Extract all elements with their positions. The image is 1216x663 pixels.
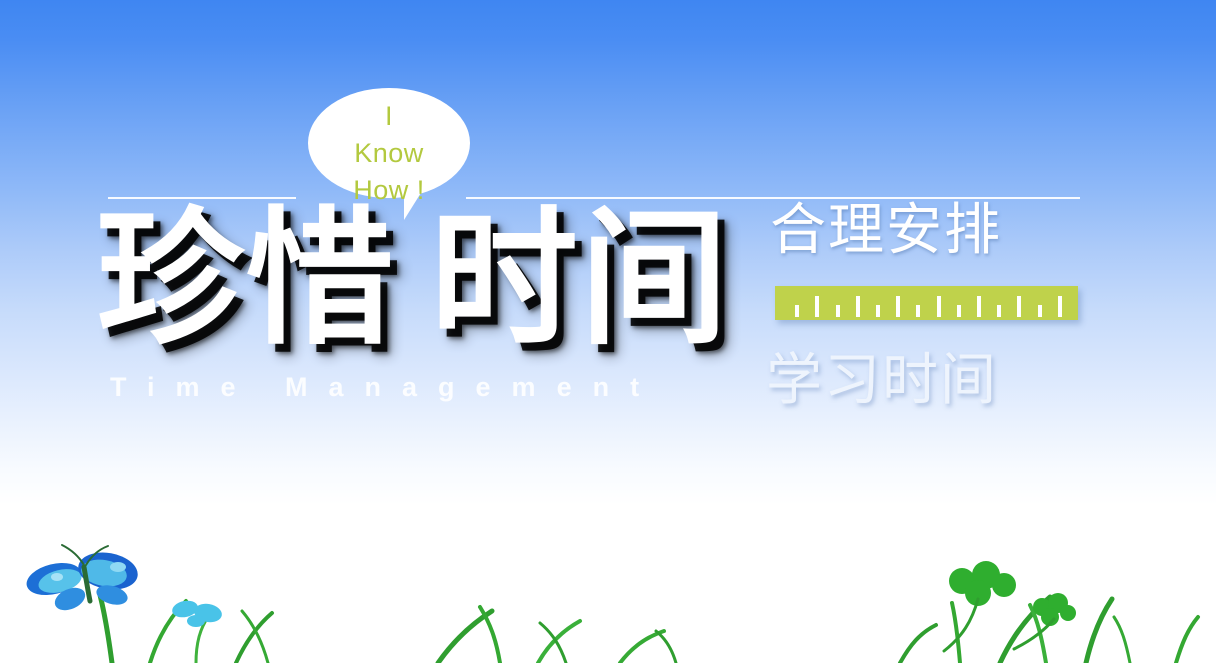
ruler-tick (916, 305, 920, 317)
ruler-tick (876, 305, 880, 317)
page-title: 珍惜时间 (96, 196, 730, 362)
nature-decoration (0, 533, 1216, 663)
ruler-tick (896, 296, 900, 317)
right-heading: 合理安排 (770, 198, 1002, 264)
title-part-two: 时间 (430, 193, 730, 365)
speech-bubble-line-2: Know (308, 135, 470, 172)
subtitle-english: Time Management (110, 372, 660, 403)
ruler-tick (997, 305, 1001, 317)
title-part-one: 珍惜 (96, 193, 396, 365)
ruler-tick (1038, 305, 1042, 317)
small-butterfly-icon (171, 598, 224, 627)
ruler-tick (1017, 296, 1021, 317)
ruler-tick (957, 305, 961, 317)
ruler-tick (977, 296, 981, 317)
ruler-tick (795, 305, 799, 317)
ruler-tick (836, 305, 840, 317)
ruler-tick (937, 296, 941, 317)
butterfly-icon (23, 545, 140, 615)
ruler-tick (815, 296, 819, 317)
ruler-tick (856, 296, 860, 317)
ruler-tick (1058, 296, 1062, 317)
presentation-slide: I Know How ! 珍惜时间 Time Management 合理安排 学… (0, 0, 1216, 663)
speech-bubble-line-1: I (308, 98, 470, 135)
clover-icon (949, 561, 1076, 626)
right-subheading: 学习时间 (766, 348, 998, 414)
ruler-graphic (775, 286, 1078, 320)
